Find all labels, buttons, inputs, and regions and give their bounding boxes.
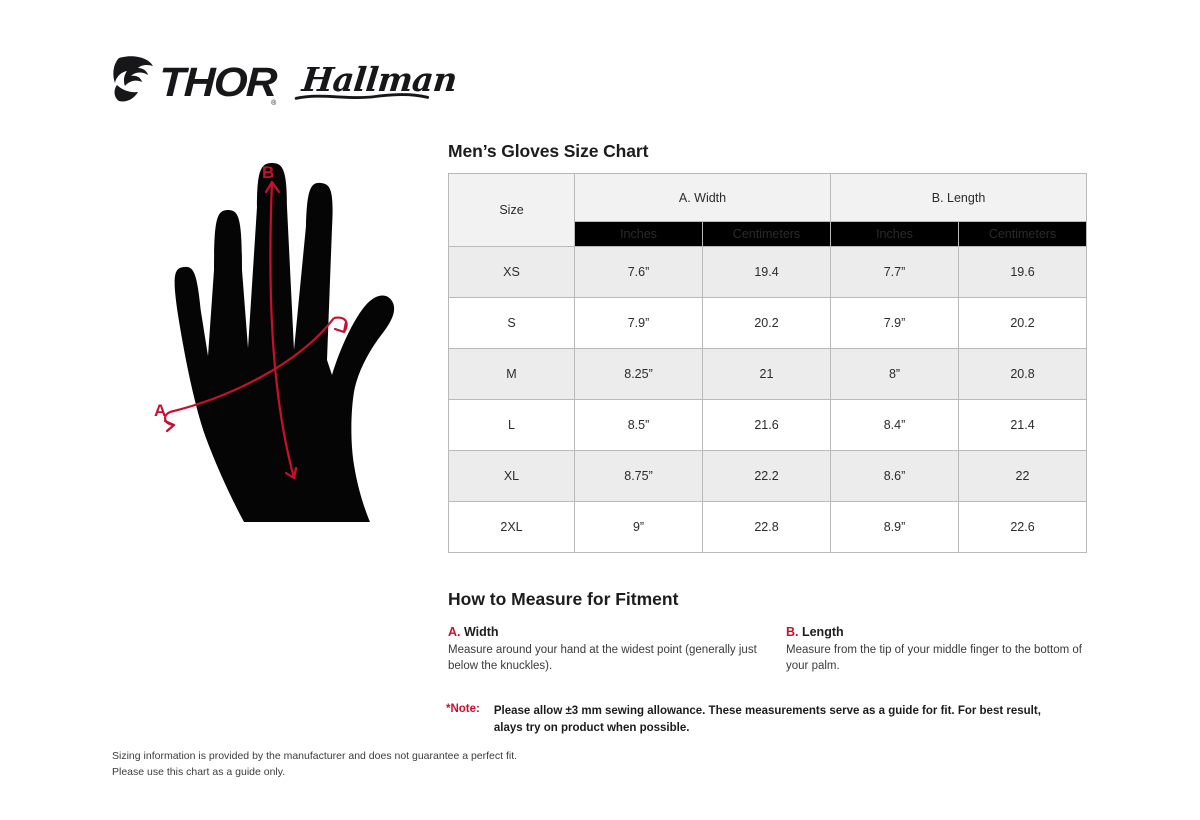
table-row: XL8.75”22.28.6”22 — [449, 451, 1087, 502]
table-row: XS7.6”19.47.7”19.6 — [449, 247, 1087, 298]
cell-width-centimeters: 20.2 — [703, 298, 831, 349]
hallman-logo: Hallman — [296, 63, 465, 102]
hallman-swash-icon — [294, 92, 430, 101]
cell-length-inches: 7.9” — [831, 298, 959, 349]
table-row: M8.25”218”20.8 — [449, 349, 1087, 400]
note-text: Please allow ±3 mm sewing allowance. The… — [494, 703, 1071, 736]
cell-width-centimeters: 22.8 — [703, 502, 831, 553]
length-label: B — [262, 163, 274, 182]
disclaimer-footer: Sizing information is provided by the ma… — [112, 748, 517, 781]
cell-width-centimeters: 19.4 — [703, 247, 831, 298]
cell-width-centimeters: 21 — [703, 349, 831, 400]
cell-size: 2XL — [449, 502, 575, 553]
cell-length-inches: 8.9” — [831, 502, 959, 553]
brand-logo-bar: THOR ® Hallman — [112, 50, 463, 114]
cell-length-centimeters: 22 — [959, 451, 1087, 502]
header-length-centimeters: Centimeters — [959, 222, 1087, 247]
measure-length-block: B. Length Measure from the tip of your m… — [786, 625, 1096, 675]
header-width-centimeters: Centimeters — [703, 222, 831, 247]
measure-width-block: A. Width Measure around your hand at the… — [448, 625, 758, 675]
measure-length-name: Length — [799, 625, 844, 639]
how-to-measure-title: How to Measure for Fitment — [448, 589, 678, 610]
cell-width-inches: 7.9” — [575, 298, 703, 349]
table-row: 2XL9”22.88.9”22.6 — [449, 502, 1087, 553]
table-header-row-groups: Size A. Width B. Length — [449, 174, 1087, 222]
cell-length-inches: 8.6” — [831, 451, 959, 502]
measure-length-text: Measure from the tip of your middle fing… — [786, 642, 1096, 675]
cell-width-inches: 8.25” — [575, 349, 703, 400]
size-chart-body: XS7.6”19.47.7”19.6S7.9”20.27.9”20.2M8.25… — [449, 247, 1087, 553]
header-width-inches: Inches — [575, 222, 703, 247]
thor-wordmark: THOR — [157, 62, 276, 103]
cell-length-inches: 7.7” — [831, 247, 959, 298]
cell-size: S — [449, 298, 575, 349]
page-title: Men’s Gloves Size Chart — [448, 141, 648, 162]
measure-length-heading: B. Length — [786, 625, 1096, 639]
header-size: Size — [449, 174, 575, 247]
disclaimer-line-1: Sizing information is provided by the ma… — [112, 748, 517, 764]
header-width-group: A. Width — [575, 174, 831, 222]
disclaimer-line-2: Please use this chart as a guide only. — [112, 764, 517, 780]
measure-width-heading: A. Width — [448, 625, 758, 639]
cell-width-inches: 7.6” — [575, 247, 703, 298]
measure-width-name: Width — [461, 625, 499, 639]
hand-measurement-diagram: A B — [118, 160, 428, 540]
cell-width-inches: 8.5” — [575, 400, 703, 451]
note-label: *Note: — [446, 703, 480, 736]
cell-length-centimeters: 21.4 — [959, 400, 1087, 451]
cell-size: XL — [449, 451, 575, 502]
measure-width-letter: A. — [448, 625, 461, 639]
table-row: L8.5”21.68.4”21.4 — [449, 400, 1087, 451]
cell-size: M — [449, 349, 575, 400]
header-length-group: B. Length — [831, 174, 1087, 222]
cell-width-inches: 8.75” — [575, 451, 703, 502]
thor-logo: THOR ® — [112, 54, 276, 111]
cell-length-inches: 8.4” — [831, 400, 959, 451]
size-chart-table: Size A. Width B. Length Inches Centimete… — [448, 173, 1087, 553]
header-length-inches: Inches — [831, 222, 959, 247]
note-row: *Note: Please allow ±3 mm sewing allowan… — [446, 703, 1071, 736]
cell-width-centimeters: 22.2 — [703, 451, 831, 502]
hand-silhouette-icon — [175, 163, 395, 522]
cell-length-centimeters: 19.6 — [959, 247, 1087, 298]
cell-width-inches: 9” — [575, 502, 703, 553]
cell-size: XS — [449, 247, 575, 298]
cell-length-centimeters: 22.6 — [959, 502, 1087, 553]
cell-length-centimeters: 20.2 — [959, 298, 1087, 349]
cell-width-centimeters: 21.6 — [703, 400, 831, 451]
cell-length-inches: 8” — [831, 349, 959, 400]
measure-width-text: Measure around your hand at the widest p… — [448, 642, 758, 675]
width-label: A — [154, 401, 166, 420]
measure-length-letter: B. — [786, 625, 799, 639]
thor-helmet-icon — [112, 54, 156, 111]
table-row: S7.9”20.27.9”20.2 — [449, 298, 1087, 349]
cell-size: L — [449, 400, 575, 451]
cell-length-centimeters: 20.8 — [959, 349, 1087, 400]
